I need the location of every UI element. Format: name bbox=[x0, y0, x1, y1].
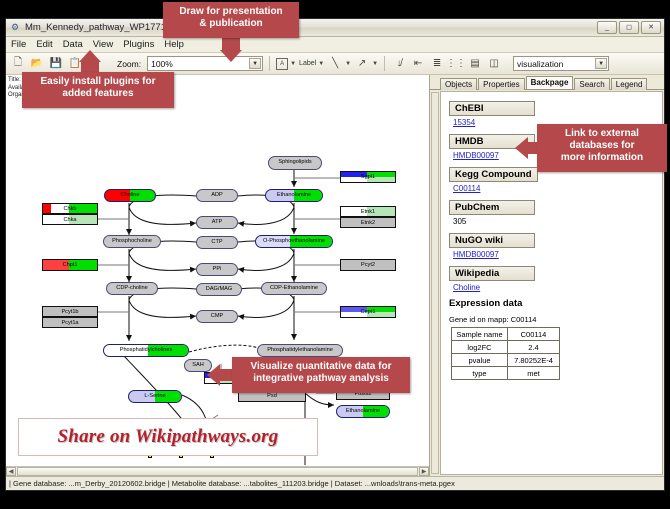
db-block-nugo: NuGO wiki HMDB00097 bbox=[449, 230, 662, 259]
node-ethanolamine-right[interactable]: Ethanolamine bbox=[336, 405, 390, 418]
tab-legend[interactable]: Legend bbox=[611, 78, 648, 90]
db-link-nugo[interactable]: HMDB00097 bbox=[453, 250, 662, 259]
node-label: CMP bbox=[211, 314, 223, 320]
tab-properties[interactable]: Properties bbox=[478, 78, 524, 90]
tab-objects[interactable]: Objects bbox=[440, 78, 477, 90]
gene-label: Pcyt2 bbox=[361, 262, 375, 268]
node-sphingolipids[interactable]: Sphingolipids bbox=[268, 156, 322, 170]
gene-pcyt2[interactable]: Pcyt2 bbox=[340, 259, 396, 271]
menu-bar: File Edit Data View Plugins Help bbox=[6, 37, 664, 53]
node-ethanolamine-top[interactable]: Ethanolamine bbox=[265, 189, 323, 202]
gene-id-on-mapp: Gene id on mapp: C00114 bbox=[449, 315, 662, 324]
callout-draw-arrow bbox=[220, 50, 242, 62]
node-phosphocholine[interactable]: Phosphocholine bbox=[103, 235, 161, 248]
node-label: Choline bbox=[121, 193, 140, 199]
db-name-pubchem: PubChem bbox=[449, 200, 535, 215]
window-controls: _ ◻ ✕ bbox=[597, 21, 661, 34]
menu-help[interactable]: Help bbox=[163, 39, 185, 50]
toolbar-separator bbox=[384, 56, 385, 71]
chevron-down-icon[interactable]: ▼ bbox=[372, 61, 378, 67]
gene-cept1[interactable]: Cept1 bbox=[340, 306, 396, 318]
node-label: PPi bbox=[213, 267, 222, 273]
chevron-down-icon[interactable]: ▼ bbox=[318, 61, 324, 67]
table-row: Sample name C00114 bbox=[452, 328, 560, 341]
expr-value: met bbox=[508, 367, 560, 380]
gene-label: Pcyt1b bbox=[61, 309, 78, 315]
side-tabs: Objects Properties Backpage Search Legen… bbox=[430, 75, 664, 90]
node-label: ADP bbox=[211, 193, 223, 199]
table-row: type met bbox=[452, 367, 560, 380]
node-dag-mag[interactable]: DAG/MAG bbox=[196, 283, 242, 296]
node-cmp[interactable]: CMP bbox=[196, 310, 238, 323]
gene-label: Psd bbox=[267, 393, 277, 399]
gene-label: Cept1 bbox=[361, 309, 376, 315]
node-label: DAG/MAG bbox=[206, 287, 232, 293]
callout-line: integrative pathway analysis bbox=[240, 373, 402, 385]
expr-key: log2FC bbox=[452, 341, 508, 354]
menu-data[interactable]: Data bbox=[62, 39, 84, 50]
toolbar-separator bbox=[269, 56, 270, 71]
line-tool-icon[interactable]: ╲ bbox=[327, 56, 343, 72]
scroll-right-arrow[interactable]: ▶ bbox=[419, 467, 429, 476]
node-label: CDP-Ethanolamine bbox=[270, 286, 318, 292]
callout-links-arrow bbox=[515, 137, 528, 159]
gene-label: Pcyt1a bbox=[61, 320, 78, 326]
menu-edit[interactable]: Edit bbox=[35, 39, 53, 50]
pathvisio-icon: ⚙ bbox=[9, 22, 21, 34]
chevron-down-icon[interactable]: ▼ bbox=[345, 61, 351, 67]
menu-file[interactable]: File bbox=[10, 39, 27, 50]
callout-plugins-arrow bbox=[79, 50, 101, 62]
callout-line: & publication bbox=[171, 18, 291, 30]
text-label-icon[interactable]: A bbox=[276, 58, 288, 70]
callout-line: added features bbox=[30, 88, 166, 100]
zoom-combo[interactable]: 100% ▼ bbox=[147, 56, 263, 71]
db-name-chebi: ChEBI bbox=[449, 101, 535, 116]
gene-label: Etnk2 bbox=[361, 220, 375, 226]
node-label: Phosphatidylethanolamine bbox=[267, 348, 333, 354]
gene-chka[interactable]: Chka bbox=[42, 214, 98, 225]
expr-value: 7.80252E-4 bbox=[508, 354, 560, 367]
db-name-nugo: NuGO wiki bbox=[449, 233, 535, 248]
table-row: pvalue 7.80252E-4 bbox=[452, 354, 560, 367]
distribute-horizontal-icon[interactable]: ⋮⋮ bbox=[448, 56, 464, 72]
gene-label: Sgpl1 bbox=[361, 174, 375, 180]
callout-plugins: Easily install plugins for added feature… bbox=[22, 72, 174, 108]
node-label: L-Serine bbox=[144, 394, 165, 400]
node-label: CTP bbox=[211, 240, 222, 246]
node-label: Sphingolipids bbox=[278, 160, 311, 166]
table-row: log2FC 2.4 bbox=[452, 341, 560, 354]
node-label: Phosphatidylcholines bbox=[120, 348, 173, 354]
visualization-combo[interactable]: visualization ▼ bbox=[513, 56, 609, 71]
minimize-button[interactable]: _ bbox=[597, 21, 617, 34]
node-label: O-Phosphoethanolamine bbox=[263, 239, 325, 245]
gene-etnk2[interactable]: Etnk2 bbox=[340, 217, 396, 228]
chevron-down-icon[interactable]: ▼ bbox=[249, 58, 261, 69]
gene-label: Chka bbox=[63, 217, 76, 223]
callout-line: Easily install plugins for bbox=[30, 76, 166, 88]
align-left-icon[interactable]: ⇤ bbox=[410, 56, 426, 72]
callout-line: Link to external bbox=[545, 128, 659, 140]
pathway-canvas[interactable]: Title: Availa Organi bbox=[6, 75, 430, 476]
node-label: Ethanolamine bbox=[277, 193, 311, 199]
gene-sgpl1[interactable]: Sgpl1 bbox=[340, 171, 396, 183]
db-block-pubchem: PubChem 305 bbox=[449, 197, 662, 226]
callout-links: Link to external databases for more info… bbox=[537, 124, 667, 172]
scroll-thumb[interactable] bbox=[17, 467, 418, 476]
open-folder-icon[interactable]: 📂 bbox=[29, 56, 45, 72]
expr-value: 2.4 bbox=[508, 341, 560, 354]
node-phosphatidylethanolamine[interactable]: Phosphatidylethanolamine bbox=[257, 344, 343, 357]
zoom-value: 100% bbox=[151, 59, 173, 69]
expr-key: Sample name bbox=[452, 328, 508, 341]
share-text: Share on Wikipathways.org bbox=[58, 426, 279, 448]
gene-pcyt1a[interactable]: Pcyt1a bbox=[42, 317, 98, 328]
status-bar: | Gene database: ...m_Derby_20120602.bri… bbox=[6, 476, 664, 490]
db-name-kegg: Kegg Compound bbox=[449, 167, 538, 182]
canvas-hscrollbar[interactable]: ◀ ▶ bbox=[6, 466, 429, 476]
callout-line: Draw for presentation bbox=[171, 6, 291, 18]
node-label: ATP bbox=[212, 220, 222, 226]
expr-key: pvalue bbox=[452, 354, 508, 367]
menu-view[interactable]: View bbox=[92, 39, 114, 50]
tab-backpage[interactable]: Backpage bbox=[526, 76, 574, 89]
scroll-left-arrow[interactable]: ◀ bbox=[6, 467, 16, 476]
db-link-kegg[interactable]: C00114 bbox=[453, 184, 662, 193]
title-bar: ⚙ Mm_Kennedy_pathway_WP1771_45176.gpml _… bbox=[6, 19, 664, 37]
node-ppi[interactable]: PPi bbox=[196, 263, 238, 276]
callout-draw-stem bbox=[222, 38, 240, 50]
db-block-wikipedia: Wikipedia Choline bbox=[449, 263, 662, 292]
save-icon[interactable]: 💾 bbox=[48, 56, 64, 72]
node-ctp[interactable]: CTP bbox=[196, 236, 238, 249]
callout-line: Visualize quantitative data for bbox=[240, 361, 402, 373]
screenshot-root: ⚙ Mm_Kennedy_pathway_WP1771_45176.gpml _… bbox=[0, 0, 670, 509]
node-atp[interactable]: ATP bbox=[196, 216, 238, 229]
gene-label: Etnk1 bbox=[361, 209, 375, 215]
node-cdp-ethanolamine[interactable]: CDP-Ethanolamine bbox=[261, 282, 327, 295]
node-label: Phosphocholine bbox=[112, 239, 152, 245]
match-width-icon[interactable]: ▤ bbox=[467, 56, 483, 72]
expression-data-heading: Expression data bbox=[449, 298, 662, 309]
callout-draw: Draw for presentation & publication bbox=[163, 2, 299, 38]
node-o-phosphoethanolamine[interactable]: O-Phosphoethanolamine bbox=[255, 235, 333, 248]
callout-line: more information bbox=[545, 152, 659, 164]
align-bottom-icon[interactable]: ↓̸ bbox=[391, 56, 407, 72]
label-tool-button[interactable]: Label bbox=[299, 60, 316, 67]
db-name-wikipedia: Wikipedia bbox=[449, 266, 535, 281]
node-label: Ethanolamine bbox=[346, 409, 380, 415]
status-text: | Gene database: ...m_Derby_20120602.bri… bbox=[9, 479, 455, 488]
callout-line: databases for bbox=[545, 140, 659, 152]
node-phosphatidylcholines[interactable]: Phosphatidylcholines bbox=[103, 344, 189, 357]
callout-visualize: Visualize quantitative data for integrat… bbox=[232, 357, 410, 393]
menu-plugins[interactable]: Plugins bbox=[122, 39, 155, 50]
chevron-down-icon[interactable]: ▼ bbox=[595, 58, 607, 69]
gene-pcyt1b[interactable]: Pcyt1b bbox=[42, 306, 98, 317]
db-block-chebi: ChEBI 15354 bbox=[449, 98, 662, 127]
match-height-icon[interactable]: ◫ bbox=[486, 56, 502, 72]
node-adp[interactable]: ADP bbox=[196, 189, 238, 202]
expr-key: type bbox=[452, 367, 508, 380]
gene-label: Chpt1 bbox=[63, 262, 78, 268]
zoom-label: Zoom: bbox=[117, 59, 141, 69]
db-value-pubchem: 305 bbox=[453, 217, 662, 226]
interaction-tool-icon[interactable]: ↗ bbox=[354, 56, 370, 72]
chevron-down-icon[interactable]: ▼ bbox=[290, 61, 296, 67]
node-choline-top[interactable]: Choline bbox=[104, 189, 156, 202]
maximize-button[interactable]: ◻ bbox=[619, 21, 639, 34]
gene-label: Chkb bbox=[63, 206, 76, 212]
node-l-serine-left[interactable]: L-Serine bbox=[128, 390, 182, 403]
callout-visualize-arrow bbox=[207, 364, 220, 386]
stack-vertical-icon[interactable]: ≣ bbox=[429, 56, 445, 72]
close-button[interactable]: ✕ bbox=[641, 21, 661, 34]
tab-search[interactable]: Search bbox=[574, 78, 609, 90]
visualization-value: visualization bbox=[517, 59, 563, 69]
gene-etnk1[interactable]: Etnk1 bbox=[340, 206, 396, 217]
node-label: CDP-choline bbox=[116, 286, 147, 292]
gene-chpt1[interactable]: Chpt1 bbox=[42, 259, 98, 271]
gene-chkb[interactable]: Chkb bbox=[42, 203, 98, 214]
db-link-wikipedia[interactable]: Choline bbox=[453, 283, 662, 292]
side-vscrollbar[interactable] bbox=[431, 92, 439, 474]
callout-share: Share on Wikipathways.org bbox=[18, 418, 318, 456]
node-label: SAH bbox=[192, 363, 204, 369]
new-file-icon[interactable]: 🗋 bbox=[10, 56, 26, 72]
node-cdp-choline[interactable]: CDP-choline bbox=[106, 282, 158, 295]
expr-value: C00114 bbox=[508, 328, 560, 341]
expression-table: Sample name C00114 log2FC 2.4 pvalue 7.8… bbox=[451, 327, 560, 380]
